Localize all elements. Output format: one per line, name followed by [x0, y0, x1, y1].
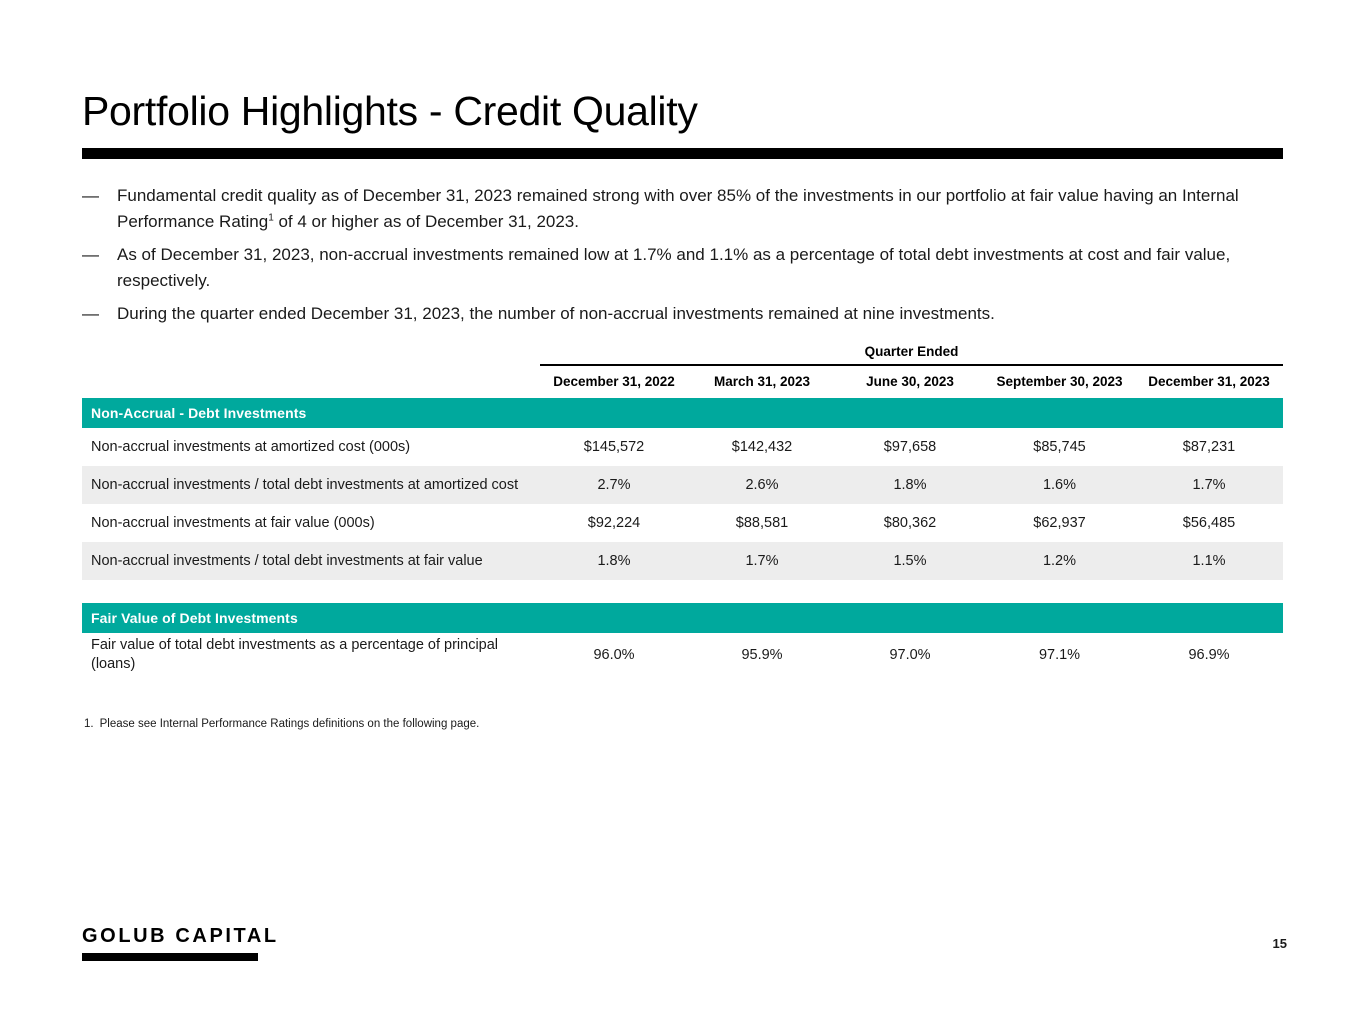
column-header-label-spacer: [82, 366, 540, 398]
bullet-item: — As of December 31, 2023, non-accrual i…: [82, 242, 1283, 294]
column-header-sep-30-2023: September 30, 2023: [984, 366, 1135, 398]
row-value: 97.0%: [836, 633, 984, 677]
row-value: $87,231: [1135, 428, 1283, 466]
footnote-number: 1.: [84, 718, 94, 730]
credit-quality-table-wrapper: Quarter Ended December 31, 2022 March 31…: [82, 337, 1283, 677]
row-value: 1.5%: [836, 542, 984, 580]
bullet-item: — Fundamental credit quality as of Decem…: [82, 183, 1283, 235]
column-header-jun-30-2023: June 30, 2023: [836, 366, 984, 398]
row-value: 1.7%: [1135, 466, 1283, 504]
bullet-dash-icon: —: [82, 242, 117, 268]
bullet-text: As of December 31, 2023, non-accrual inv…: [117, 242, 1283, 294]
row-value: $62,937: [984, 504, 1135, 542]
footnote-text: Please see Internal Performance Ratings …: [100, 718, 480, 730]
row-value: 97.1%: [984, 633, 1135, 677]
bullet-text-part: of 4 or higher as of December 31, 2023.: [274, 212, 579, 231]
column-header-mar-31-2023: March 31, 2023: [688, 366, 836, 398]
row-label: Non-accrual investments at fair value (0…: [82, 504, 540, 542]
section-header-non-accrual: Non-Accrual - Debt Investments: [82, 398, 1283, 428]
table-row: Non-accrual investments / total debt inv…: [82, 466, 1283, 504]
row-value: $92,224: [540, 504, 688, 542]
row-value: 96.0%: [540, 633, 688, 677]
page-number: 15: [1273, 936, 1287, 951]
table-row: Non-accrual investments / total debt inv…: [82, 542, 1283, 580]
row-label: Fair value of total debt investments as …: [82, 633, 540, 677]
bullet-list: — Fundamental credit quality as of Decem…: [82, 183, 1283, 334]
group-header-spacer: [82, 337, 540, 363]
row-value: 1.1%: [1135, 542, 1283, 580]
row-value: 2.6%: [688, 466, 836, 504]
row-value: $85,745: [984, 428, 1135, 466]
row-value: 1.6%: [984, 466, 1135, 504]
row-value: $142,432: [688, 428, 836, 466]
table-body: Non-Accrual - Debt Investments Non-accru…: [82, 398, 1283, 677]
table-header: Quarter Ended December 31, 2022 March 31…: [82, 337, 1283, 398]
row-value: $145,572: [540, 428, 688, 466]
row-value: 95.9%: [688, 633, 836, 677]
title-underline-rule: [82, 148, 1283, 159]
slide: Portfolio Highlights - Credit Quality — …: [0, 0, 1365, 1024]
column-header-dec-31-2022: December 31, 2022: [540, 366, 688, 398]
credit-quality-table: Quarter Ended December 31, 2022 March 31…: [82, 337, 1283, 677]
table-row: Non-accrual investments at fair value (0…: [82, 504, 1283, 542]
column-header-dec-31-2023: December 31, 2023: [1135, 366, 1283, 398]
table-column-header-row: December 31, 2022 March 31, 2023 June 30…: [82, 366, 1283, 398]
table-section-spacer: [82, 580, 1283, 603]
row-value: $97,658: [836, 428, 984, 466]
footnote: 1.Please see Internal Performance Rating…: [84, 716, 479, 732]
bullet-dash-icon: —: [82, 301, 117, 327]
row-value: 2.7%: [540, 466, 688, 504]
row-value: 1.2%: [984, 542, 1135, 580]
bullet-dash-icon: —: [82, 183, 117, 209]
table-row: Fair value of total debt investments as …: [82, 633, 1283, 677]
logo-underline-rule: [82, 953, 258, 961]
row-value: $56,485: [1135, 504, 1283, 542]
section-header-label: Non-Accrual - Debt Investments: [82, 398, 1283, 428]
bullet-text: Fundamental credit quality as of Decembe…: [117, 183, 1283, 235]
group-header-quarter-ended: Quarter Ended: [540, 337, 1283, 363]
bullet-item: — During the quarter ended December 31, …: [82, 301, 1283, 327]
row-value: $80,362: [836, 504, 984, 542]
bullet-text: During the quarter ended December 31, 20…: [117, 301, 1283, 327]
section-header-label: Fair Value of Debt Investments: [82, 603, 1283, 633]
row-value: 1.8%: [540, 542, 688, 580]
table-group-header-row: Quarter Ended: [82, 337, 1283, 363]
page-title: Portfolio Highlights - Credit Quality: [82, 88, 698, 135]
table-row: Non-accrual investments at amortized cos…: [82, 428, 1283, 466]
section-header-fair-value: Fair Value of Debt Investments: [82, 603, 1283, 633]
row-value: 1.8%: [836, 466, 984, 504]
row-label: Non-accrual investments / total debt inv…: [82, 466, 540, 504]
row-value: $88,581: [688, 504, 836, 542]
logo-text: GOLUB CAPITAL: [82, 925, 279, 947]
row-value: 1.7%: [688, 542, 836, 580]
golub-capital-logo: GOLUB CAPITAL: [82, 925, 279, 961]
row-label: Non-accrual investments at amortized cos…: [82, 428, 540, 466]
row-label: Non-accrual investments / total debt inv…: [82, 542, 540, 580]
row-value: 96.9%: [1135, 633, 1283, 677]
